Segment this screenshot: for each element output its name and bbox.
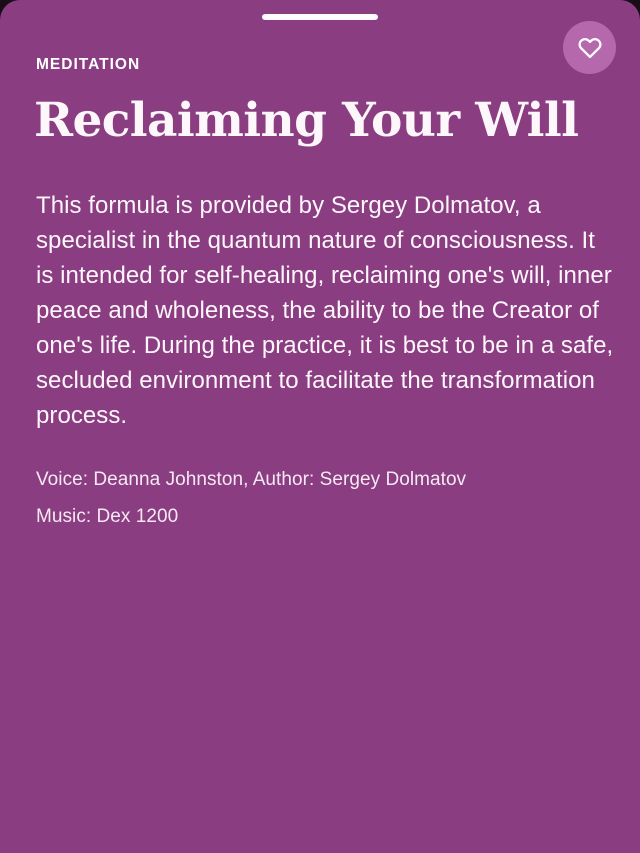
category-label: MEDITATION [36,55,140,75]
credit-line-music: Music: Dex 1200 [36,498,596,535]
favorite-button[interactable] [563,21,616,74]
heart-icon [577,35,603,61]
meditation-detail-sheet: MEDITATION Reclaiming Your Will This for… [0,0,640,853]
sheet-drag-handle[interactable] [262,14,378,20]
description-text: This formula is provided by Sergey Dolma… [36,188,614,433]
page-title: Reclaiming Your Will [34,93,614,149]
credits-block: Voice: Deanna Johnston, Author: Sergey D… [36,461,596,535]
credit-line-voice-author: Voice: Deanna Johnston, Author: Sergey D… [36,461,596,498]
